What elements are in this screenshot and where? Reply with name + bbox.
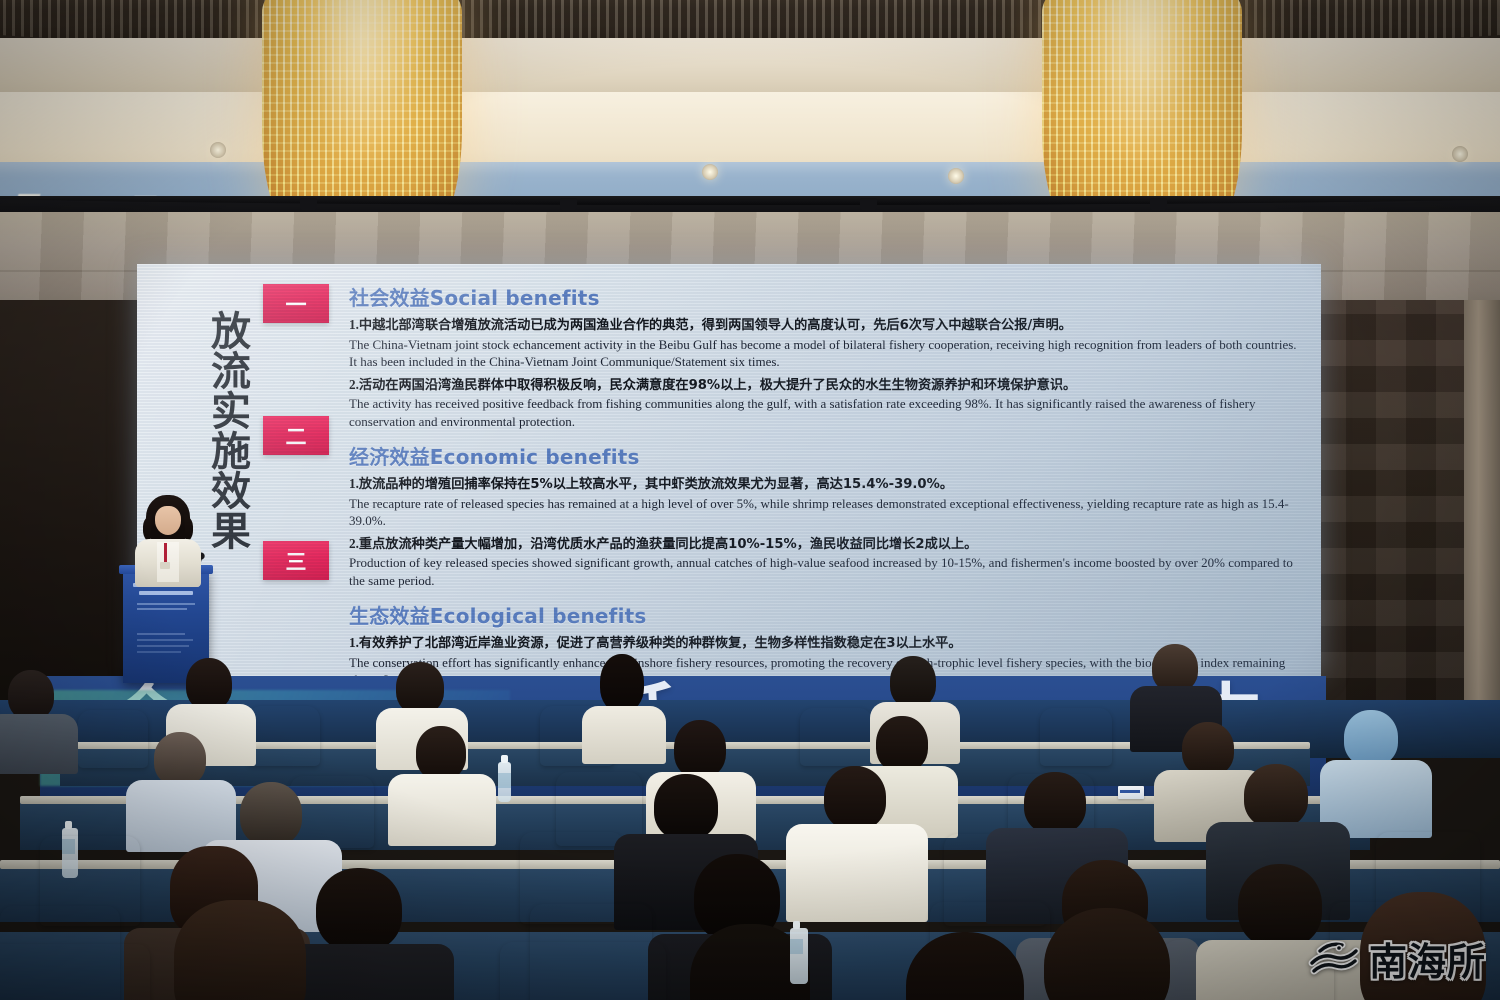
watermark-text: 南海所 (1369, 931, 1486, 986)
podium-sign-subline (137, 603, 195, 605)
item-number: 1. (349, 317, 359, 332)
section-heading: 经济效益Economic benefits (349, 441, 1299, 470)
item-cn-text: 活动在两国沿湾渔民群体中取得积极反响，民众满意度在98%以上，极大提升了民众的水… (359, 378, 1076, 393)
podium-sign-subline (137, 651, 181, 653)
truss-fixture (300, 198, 317, 210)
item-number: 2. (349, 377, 359, 392)
attendee-head (1344, 710, 1398, 766)
presenter-badge (160, 562, 170, 569)
section-item-en: The activity has received positive feedb… (349, 395, 1299, 430)
attendee-head (1182, 722, 1234, 776)
presenter-face (155, 506, 181, 535)
item-cn-text: 中越北部湾联合增殖放流活动已成为两国渔业合作的典范，得到两国领导人的高度认可，先… (359, 318, 1072, 333)
truss-fixture (860, 198, 877, 210)
attendee-head (154, 732, 206, 786)
slide-content: 社会效益Social benefits 1.中越北部湾联合增殖放流活动已成为两国… (349, 282, 1299, 676)
led-presentation-screen: 放流实施效果 一 二 三 社会效益Social benefits 1.中越北部湾… (137, 264, 1321, 676)
attendee-head (674, 720, 726, 778)
attendee-torso (388, 774, 496, 846)
attendee-torso (582, 706, 666, 764)
section-item-cn: 1.放流品种的增殖回捕率保持在5%以上较高水平，其中虾类放流效果尤为显著，高达1… (349, 475, 1299, 495)
podium-sign-line (139, 591, 193, 595)
chair (248, 706, 320, 766)
section-item-cn: 1.中越北部湾联合增殖放流活动已成为两国渔业合作的典范，得到两国领导人的高度认可… (349, 316, 1299, 336)
item-number: 1. (349, 476, 359, 491)
section-badge-1: 一 (263, 284, 329, 323)
attendee-torso (0, 714, 78, 774)
podium-sign-subline (137, 633, 185, 635)
attendee-head (1244, 764, 1308, 828)
item-cn-text: 放流品种的增殖回捕率保持在5%以上较高水平，其中虾类放流效果尤为显著，高达15.… (359, 477, 953, 492)
attendee-head (890, 656, 936, 708)
section-heading: 生态效益Ecological benefits (349, 600, 1299, 629)
right-wall-column (1464, 300, 1500, 720)
section-item-en: The recapture rate of released species h… (349, 495, 1299, 530)
attendee-head (396, 662, 444, 714)
item-number: 1. (349, 635, 359, 650)
audience-area (0, 736, 1500, 1000)
fish-wave-logo-icon (1308, 933, 1360, 985)
chair (500, 942, 666, 1000)
truss-fixture (1150, 198, 1167, 210)
downlight-icon (1452, 146, 1468, 162)
chair (800, 708, 872, 766)
water-bottle (790, 928, 808, 984)
attendee-head (416, 726, 466, 780)
attendee-torso (786, 824, 928, 922)
podium-sign-subline (137, 639, 193, 641)
chair (1040, 708, 1112, 766)
chair (78, 710, 148, 768)
attendee-head (1152, 644, 1198, 692)
chair (0, 944, 150, 1000)
downlight-icon (702, 164, 718, 180)
chandelier-glow (302, 0, 422, 171)
podium-sign-subline (137, 608, 187, 610)
attendee-head (876, 716, 928, 772)
attendee-head (186, 658, 232, 710)
section-item-en: Production of key released species showe… (349, 554, 1299, 589)
presenter-lanyard (164, 543, 167, 563)
section-item-en: The China-Vietnam joint stock echancemen… (349, 336, 1299, 371)
podium-sign-subline (137, 645, 189, 647)
attendee-head (600, 654, 644, 712)
section-heading: 社会效益Social benefits (349, 282, 1299, 311)
downlight-icon (210, 142, 226, 158)
name-placard (1118, 786, 1144, 799)
slide-section-social: 社会效益Social benefits 1.中越北部湾联合增殖放流活动已成为两国… (349, 282, 1299, 430)
attendee-head (240, 782, 302, 846)
attendee-head (174, 900, 306, 1000)
item-number: 2. (349, 536, 359, 551)
conference-photo: 放流实施效果 一 二 三 社会效益Social benefits 1.中越北部湾… (0, 0, 1500, 1000)
chandelier-glow (1082, 0, 1202, 171)
downlight-icon (948, 168, 964, 184)
truss-fixture (560, 198, 577, 210)
attendee-head (8, 670, 54, 720)
left-dark-wall (0, 300, 140, 720)
section-item-cn: 2.重点放流种类产量大幅增加，沿湾优质水产品的渔获量同比提高10%-15%，渔民… (349, 535, 1299, 555)
water-bottle (498, 762, 511, 802)
chair (290, 776, 374, 848)
item-cn-text: 有效养护了北部湾近岸渔业资源，促进了高营养级种类的种群恢复，生物多样性指数稳定在… (359, 636, 962, 651)
section-badge-3: 三 (263, 541, 329, 580)
section-item-cn: 2.活动在两国沿湾渔民群体中取得积极反响，民众满意度在98%以上，极大提升了民众… (349, 376, 1299, 396)
section-badge-2: 二 (263, 416, 329, 455)
placard-text-line (1120, 790, 1140, 793)
attendee-head (824, 766, 886, 830)
item-cn-text: 重点放流种类产量大幅增加，沿湾优质水产品的渔获量同比提高10%-15%，渔民收益… (359, 537, 977, 552)
presenter (133, 495, 203, 585)
attendee-head (1024, 772, 1086, 834)
slide-section-economic: 经济效益Economic benefits 1.放流品种的增殖回捕率保持在5%以… (349, 441, 1299, 589)
attendee-head (316, 868, 402, 952)
watermark: 南海所 (1308, 931, 1486, 986)
attendee-head (654, 774, 718, 840)
